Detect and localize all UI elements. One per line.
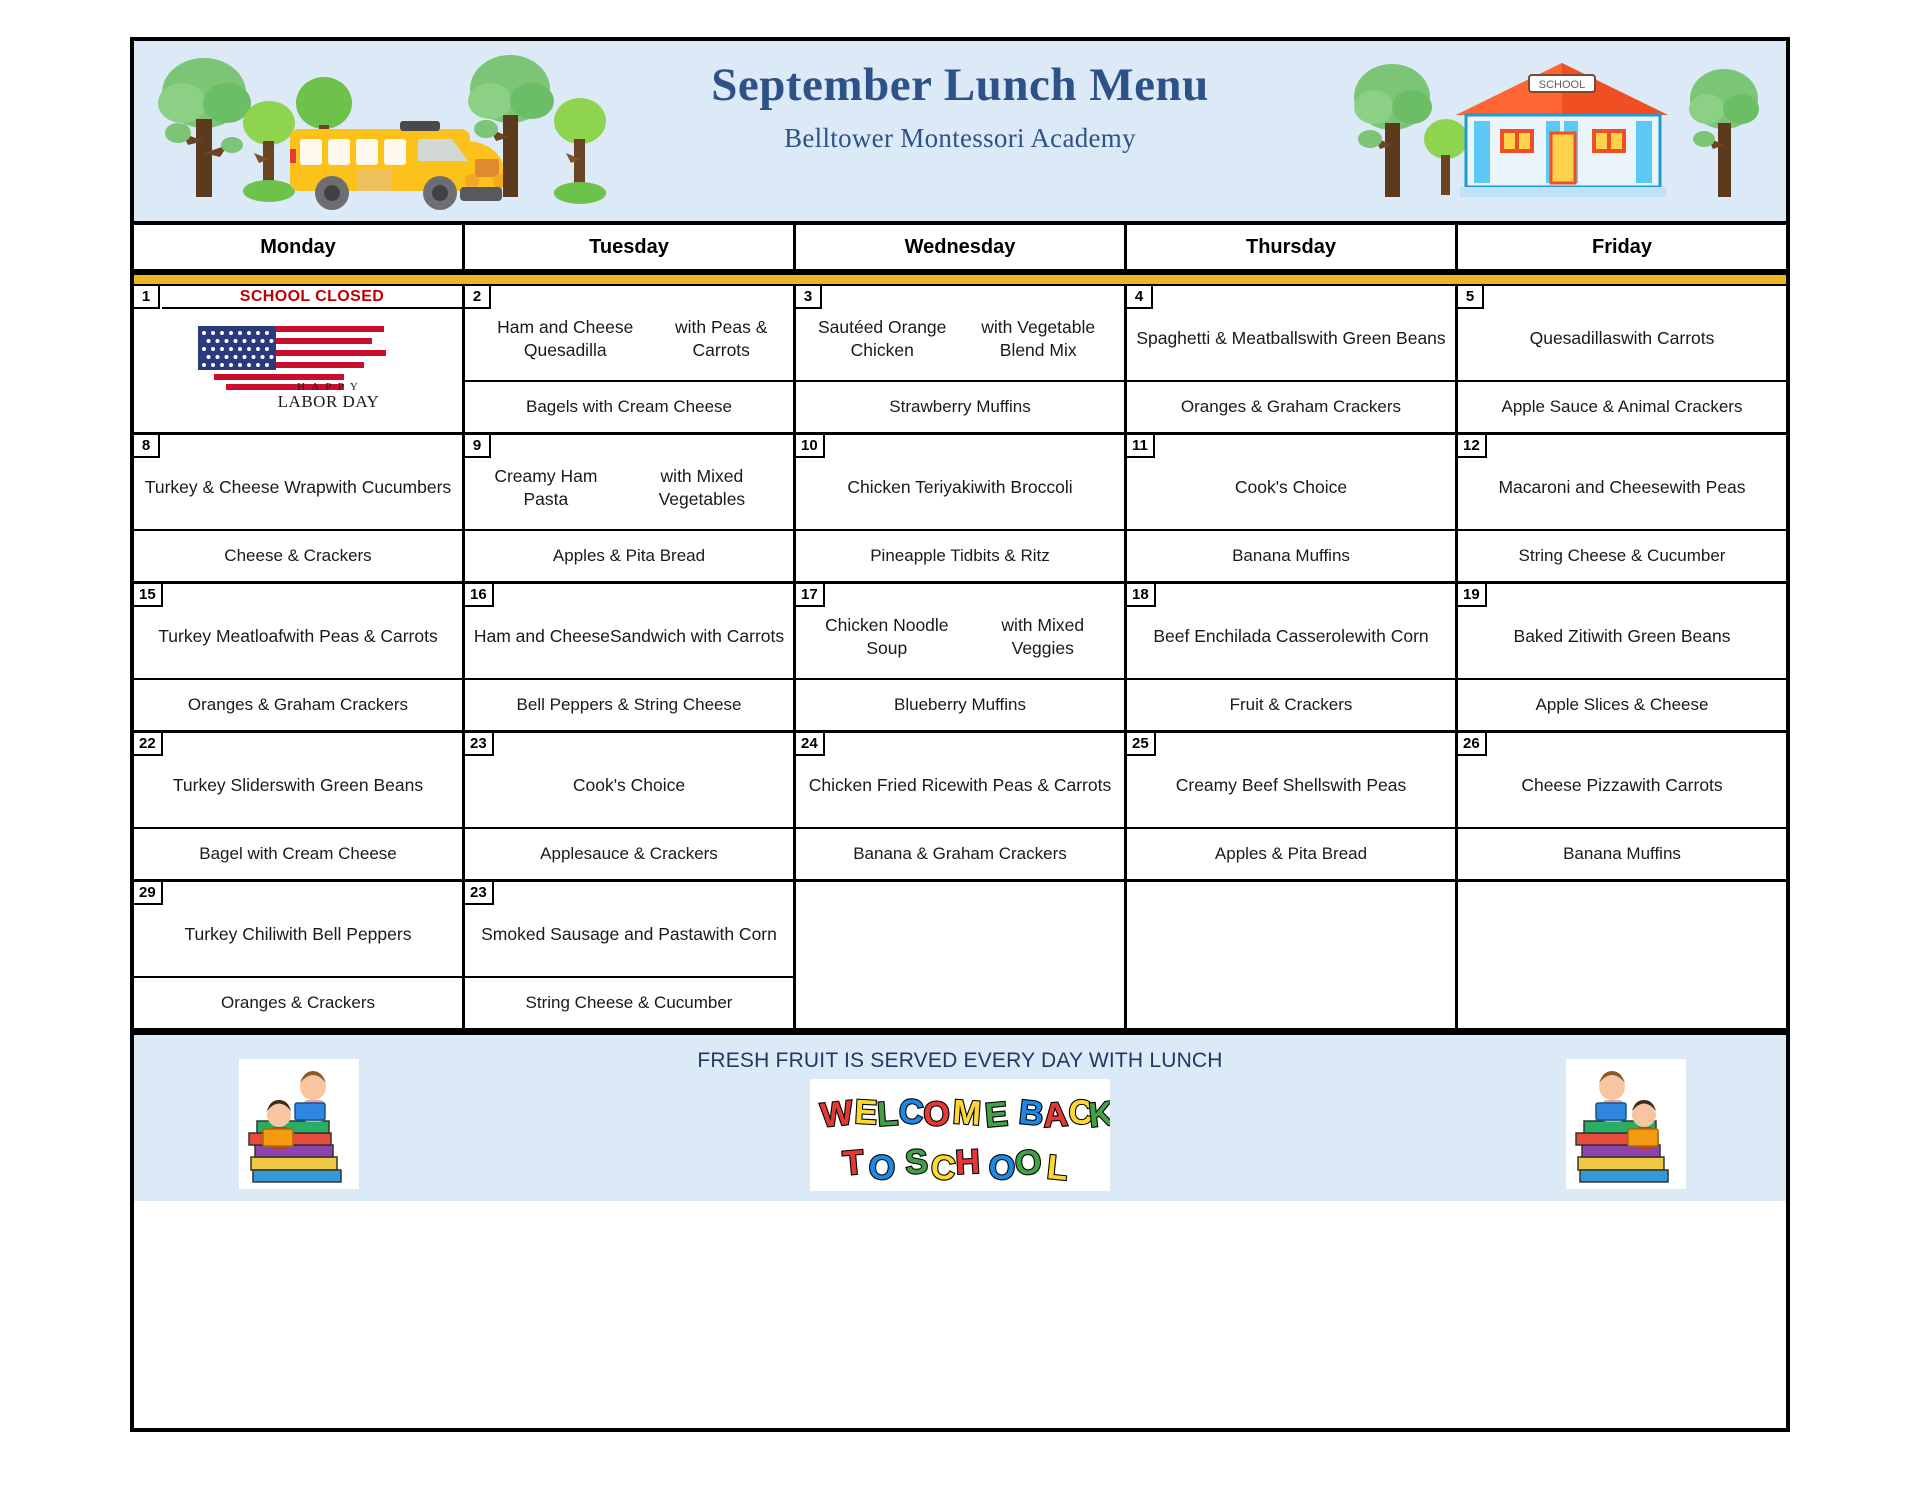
day-number: 24 xyxy=(796,733,825,756)
day-number: 2 xyxy=(465,286,491,309)
day-number: 18 xyxy=(1127,584,1156,607)
children-reading-illustration-right xyxy=(1566,1059,1686,1189)
lunch-entree: Smoked Sausage and Pastawith Corn xyxy=(465,882,793,978)
lunch-entree: Spaghetti & Meatballswith Green Beans xyxy=(1127,286,1455,382)
calendar-week-row: 1SCHOOL CLOSEDH A P P YLABOR DAY2Ham and… xyxy=(134,286,1786,435)
svg-text:E: E xyxy=(854,1093,879,1132)
lunch-entree: Turkey Meatloafwith Peas & Carrots xyxy=(134,584,462,680)
lunch-entree: Turkey Sliderswith Green Beans xyxy=(134,733,462,829)
svg-text:O: O xyxy=(1013,1143,1043,1183)
snack-item: String Cheese & Cucumber xyxy=(465,978,793,1028)
snack-item: Bagels with Cream Cheese xyxy=(465,382,793,432)
menu-sheet: September Lunch Menu Belltower Montessor… xyxy=(130,37,1790,1432)
day-number: 19 xyxy=(1458,584,1487,607)
calendar-day-cell[interactable]: 23Cook's ChoiceApplesauce & Crackers xyxy=(465,733,796,879)
svg-text:K: K xyxy=(1087,1095,1110,1135)
svg-text:A: A xyxy=(1042,1095,1069,1135)
svg-text:W: W xyxy=(819,1094,856,1135)
snack-item: Applesauce & Crackers xyxy=(465,829,793,879)
lunch-entree: Turkey Chiliwith Bell Peppers xyxy=(134,882,462,978)
snack-item: Banana & Graham Crackers xyxy=(796,829,1124,879)
calendar-week-row: 29Turkey Chiliwith Bell PeppersOranges &… xyxy=(134,882,1786,1031)
snack-item: Oranges & Graham Crackers xyxy=(134,680,462,730)
fresh-fruit-note: FRESH FRUIT IS SERVED EVERY DAY WITH LUN… xyxy=(134,1049,1786,1073)
calendar-day-cell[interactable]: 16Ham and CheeseSandwich with CarrotsBel… xyxy=(465,584,796,730)
svg-text:C: C xyxy=(929,1148,957,1188)
lunch-entree: Cook's Choice xyxy=(1127,435,1455,531)
calendar-day-cell[interactable]: 24Chicken Fried Ricewith Peas & CarrotsB… xyxy=(796,733,1127,879)
day-number: 23 xyxy=(465,733,494,756)
snack-item: Apples & Pita Bread xyxy=(1127,829,1455,879)
school-closed-label: SCHOOL CLOSED xyxy=(162,286,462,309)
calendar-grid: 1SCHOOL CLOSEDH A P P YLABOR DAY2Ham and… xyxy=(134,286,1786,1031)
calendar-week-row: 15Turkey Meatloafwith Peas & CarrotsOran… xyxy=(134,584,1786,733)
day-number: 9 xyxy=(465,435,491,458)
calendar-day-cell[interactable]: 11Cook's ChoiceBanana Muffins xyxy=(1127,435,1458,581)
day-number: 17 xyxy=(796,584,825,607)
calendar-week-row: 22Turkey Sliderswith Green BeansBagel wi… xyxy=(134,733,1786,882)
svg-text:T: T xyxy=(841,1143,865,1183)
lunch-entree: Sautéed Orange Chickenwith Vegetable Ble… xyxy=(796,286,1124,382)
svg-text:S: S xyxy=(904,1142,929,1181)
svg-text:L: L xyxy=(1045,1148,1070,1188)
lunch-entree: Turkey & Cheese Wrapwith Cucumbers xyxy=(134,435,462,531)
gold-divider-bar xyxy=(134,273,1786,286)
calendar-empty-cell xyxy=(796,882,1127,1028)
lunch-entree: Quesadillaswith Carrots xyxy=(1458,286,1786,382)
calendar-day-cell[interactable]: 8Turkey & Cheese Wrapwith CucumbersChees… xyxy=(134,435,465,581)
day-number: 12 xyxy=(1458,435,1487,458)
day-number: 23 xyxy=(465,882,494,905)
snack-item: Banana Muffins xyxy=(1458,829,1786,879)
lunch-entree: Beef Enchilada Casserolewith Corn xyxy=(1127,584,1455,680)
day-number: 1 xyxy=(134,286,160,309)
day-number: 22 xyxy=(134,733,163,756)
day-number: 15 xyxy=(134,584,163,607)
lunch-entree: Chicken Teriyakiwith Broccoli xyxy=(796,435,1124,531)
day-number: 26 xyxy=(1458,733,1487,756)
lunch-menu-page: September Lunch Menu Belltower Montessor… xyxy=(0,0,1920,1485)
weekday-header-friday: Friday xyxy=(1458,225,1786,269)
svg-text:E: E xyxy=(983,1095,1009,1135)
weekday-header-monday: Monday xyxy=(134,225,465,269)
calendar-day-cell[interactable]: 4Spaghetti & Meatballswith Green BeansOr… xyxy=(1127,286,1458,432)
calendar-day-cell[interactable]: 22Turkey Sliderswith Green BeansBagel wi… xyxy=(134,733,465,879)
footer-banner: FRESH FRUIT IS SERVED EVERY DAY WITH LUN… xyxy=(134,1031,1786,1201)
day-number: 29 xyxy=(134,882,163,905)
snack-item: Oranges & Crackers xyxy=(134,978,462,1028)
svg-text:SCHOOL: SCHOOL xyxy=(1539,79,1585,91)
lunch-entree: Cook's Choice xyxy=(465,733,793,829)
svg-text:M: M xyxy=(951,1093,982,1133)
calendar-day-cell[interactable]: 15Turkey Meatloafwith Peas & CarrotsOran… xyxy=(134,584,465,730)
calendar-day-cell[interactable]: 19Baked Zitiwith Green BeansApple Slices… xyxy=(1458,584,1786,730)
svg-text:O: O xyxy=(922,1095,950,1134)
children-reading-illustration-left xyxy=(239,1059,359,1189)
calendar-day-cell[interactable]: 12Macaroni and Cheesewith PeasString Che… xyxy=(1458,435,1786,581)
svg-text:C: C xyxy=(897,1092,925,1132)
calendar-day-cell[interactable]: 1SCHOOL CLOSEDH A P P YLABOR DAY xyxy=(134,286,465,432)
svg-text:O: O xyxy=(987,1148,1016,1188)
lunch-entree: Macaroni and Cheesewith Peas xyxy=(1458,435,1786,531)
weekday-header-thursday: Thursday xyxy=(1127,225,1458,269)
calendar-day-cell[interactable]: 23Smoked Sausage and Pastawith CornStrin… xyxy=(465,882,796,1028)
calendar-day-cell[interactable]: 17Chicken Noodle Soupwith Mixed VeggiesB… xyxy=(796,584,1127,730)
lunch-entree: Chicken Fried Ricewith Peas & Carrots xyxy=(796,733,1124,829)
calendar-day-cell[interactable]: 3Sautéed Orange Chickenwith Vegetable Bl… xyxy=(796,286,1127,432)
snack-item: Bell Peppers & String Cheese xyxy=(465,680,793,730)
weekday-header-row: Monday Tuesday Wednesday Thursday Friday xyxy=(134,225,1786,273)
lunch-entree: Creamy Ham Pastawith Mixed Vegetables xyxy=(465,435,793,531)
lunch-entree: Creamy Beef Shellswith Peas xyxy=(1127,733,1455,829)
day-number: 5 xyxy=(1458,286,1484,309)
lunch-entree: Baked Zitiwith Green Beans xyxy=(1458,584,1786,680)
weekday-header-tuesday: Tuesday xyxy=(465,225,796,269)
day-number: 25 xyxy=(1127,733,1156,756)
snack-item: Pineapple Tidbits & Ritz xyxy=(796,531,1124,581)
calendar-day-cell[interactable]: 5Quesadillaswith CarrotsApple Sauce & An… xyxy=(1458,286,1786,432)
snack-item: Oranges & Graham Crackers xyxy=(1127,382,1455,432)
calendar-day-cell[interactable]: 2Ham and Cheese Quesadillawith Peas & Ca… xyxy=(465,286,796,432)
day-number: 3 xyxy=(796,286,822,309)
day-number: 4 xyxy=(1127,286,1153,309)
snack-item: Strawberry Muffins xyxy=(796,382,1124,432)
calendar-empty-cell xyxy=(1458,882,1786,1028)
snack-item: Banana Muffins xyxy=(1127,531,1455,581)
svg-text:O: O xyxy=(867,1148,896,1188)
snack-item: Bagel with Cream Cheese xyxy=(134,829,462,879)
school-bus-and-trees-illustration xyxy=(142,41,612,225)
day-number: 8 xyxy=(134,435,160,458)
snack-item: Apple Slices & Cheese xyxy=(1458,680,1786,730)
snack-item: Apple Sauce & Animal Crackers xyxy=(1458,382,1786,432)
calendar-week-row: 8Turkey & Cheese Wrapwith CucumbersChees… xyxy=(134,435,1786,584)
calendar-day-cell[interactable]: 9Creamy Ham Pastawith Mixed VegetablesAp… xyxy=(465,435,796,581)
day-number: 11 xyxy=(1127,435,1155,458)
weekday-header-wednesday: Wednesday xyxy=(796,225,1127,269)
snack-item: Blueberry Muffins xyxy=(796,680,1124,730)
lunch-entree: Chicken Noodle Soupwith Mixed Veggies xyxy=(796,584,1124,680)
lunch-entree: Cheese Pizzawith Carrots xyxy=(1458,733,1786,829)
snack-item: String Cheese & Cucumber xyxy=(1458,531,1786,581)
calendar-day-cell[interactable]: 26Cheese Pizzawith CarrotsBanana Muffins xyxy=(1458,733,1786,879)
calendar-day-cell[interactable]: 18Beef Enchilada Casserolewith CornFruit… xyxy=(1127,584,1458,730)
lunch-entree: Ham and Cheese Quesadillawith Peas & Car… xyxy=(465,286,793,382)
svg-text:L: L xyxy=(876,1095,899,1134)
calendar-day-cell[interactable]: 25Creamy Beef Shellswith PeasApples & Pi… xyxy=(1127,733,1458,879)
calendar-day-cell[interactable]: 29Turkey Chiliwith Bell PeppersOranges &… xyxy=(134,882,465,1028)
snack-item: Apples & Pita Bread xyxy=(465,531,793,581)
snack-item: Cheese & Crackers xyxy=(134,531,462,581)
svg-text:H: H xyxy=(954,1143,981,1182)
american-flag-icon: H A P P YLABOR DAY xyxy=(196,324,401,410)
header-banner: September Lunch Menu Belltower Montessor… xyxy=(134,41,1786,225)
snack-item: Fruit & Crackers xyxy=(1127,680,1455,730)
school-building-and-trees-illustration: SCHOOL xyxy=(1348,41,1778,225)
labor-day-text: LABOR DAY xyxy=(254,393,404,412)
day-number: 10 xyxy=(796,435,825,458)
calendar-day-cell[interactable]: 10Chicken Teriyakiwith BroccoliPineapple… xyxy=(796,435,1127,581)
calendar-empty-cell xyxy=(1127,882,1458,1028)
welcome-back-to-school-graphic: W E L C O M E B A C K T O S C xyxy=(810,1079,1110,1191)
day-number: 16 xyxy=(465,584,494,607)
lunch-entree: Ham and CheeseSandwich with Carrots xyxy=(465,584,793,680)
